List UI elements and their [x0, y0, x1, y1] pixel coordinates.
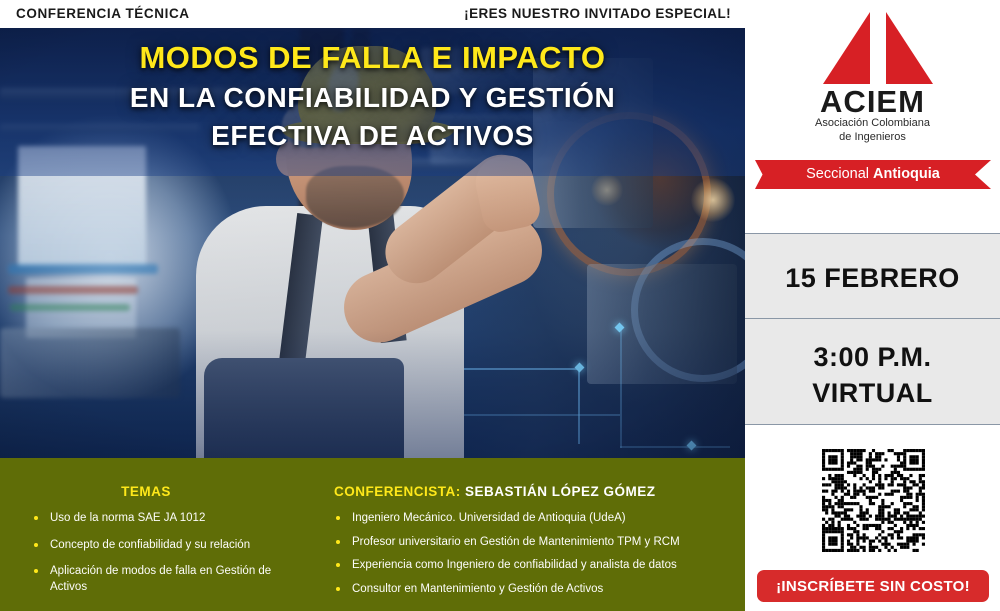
list-item: Consultor en Mantenimiento y Gestión de …	[334, 582, 731, 598]
poster-right-sidebar: ACIEM Asociación Colombianade Ingenieros…	[745, 0, 1000, 611]
hero-photo-area: MODOS DE FALLA E IMPACTO EN LA CONFIABIL…	[0, 28, 745, 460]
divider-bottom	[745, 424, 1000, 425]
poster-left-column: CONFERENCIA TÉCNICA ¡ERES NUESTRO INVITA…	[0, 0, 745, 611]
event-date: 15 FEBRERO	[745, 263, 1000, 294]
event-mode-value: VIRTUAL	[812, 378, 933, 408]
title-line-3: EFECTIVA DE ACTIVOS	[0, 120, 745, 152]
list-item: Ingeniero Mecánico. Universidad de Antio…	[334, 511, 731, 527]
list-item: Aplicación de modos de falla en Gestión …	[32, 564, 276, 595]
topics-column: TEMAS Uso de la norma SAE JA 1012 Concep…	[0, 458, 292, 611]
qr-code-icon[interactable]	[822, 449, 925, 552]
conference-poster: CONFERENCIA TÉCNICA ¡ERES NUESTRO INVITA…	[0, 0, 1000, 611]
brand-wordmark: ACIEM	[745, 84, 1000, 120]
list-item: Concepto de confiabilidad y su relación	[32, 538, 276, 554]
title-line-1: MODOS DE FALLA E IMPACTO	[0, 40, 745, 76]
page-title: MODOS DE FALLA E IMPACTO EN LA CONFIABIL…	[0, 40, 745, 153]
list-item: Experiencia como Ingeniero de confiabili…	[334, 558, 731, 574]
speaker-column: CONFERENCISTA: SEBASTIÁN LÓPEZ GÓMEZ Ing…	[300, 458, 745, 611]
brand-tagline: Asociación Colombianade Ingenieros	[745, 116, 1000, 145]
header-right-label: ¡ERES NUESTRO INVITADO ESPECIAL!	[464, 6, 731, 21]
topics-heading: TEMAS	[0, 484, 292, 499]
header-left-label: CONFERENCIA TÉCNICA	[16, 6, 190, 21]
speaker-heading-label: CONFERENCISTA:	[334, 484, 461, 499]
top-header-bar: CONFERENCIA TÉCNICA ¡ERES NUESTRO INVITA…	[0, 0, 745, 28]
event-time-value: 3:00 P.M.	[813, 342, 931, 372]
seccional-ribbon-label: Seccional Antioquia	[755, 160, 991, 189]
qr-code-canvas[interactable]	[822, 449, 925, 552]
register-button-label: ¡INSCRÍBETE SIN COSTO!	[776, 578, 970, 595]
event-time: 3:00 P.M. VIRTUAL	[745, 340, 1000, 411]
register-button[interactable]: ¡INSCRÍBETE SIN COSTO!	[757, 570, 989, 602]
ribbon-prefix: Seccional	[806, 166, 869, 182]
title-line-2: EN LA CONFIABILIDAD Y GESTIÓN	[0, 82, 745, 114]
list-item: Uso de la norma SAE JA 1012	[32, 511, 276, 527]
topics-list: Uso de la norma SAE JA 1012 Concepto de …	[32, 511, 276, 595]
list-item: Profesor universitario en Gestión de Man…	[334, 535, 731, 551]
speaker-name: SEBASTIÁN LÓPEZ GÓMEZ	[465, 484, 656, 499]
aciem-sail-triangles-icon	[823, 12, 933, 84]
speaker-heading: CONFERENCISTA: SEBASTIÁN LÓPEZ GÓMEZ	[334, 484, 745, 499]
ribbon-name: Antioquia	[873, 166, 940, 182]
speaker-credentials-list: Ingeniero Mecánico. Universidad de Antio…	[334, 511, 731, 597]
info-panel: TEMAS Uso de la norma SAE JA 1012 Concep…	[0, 458, 745, 611]
